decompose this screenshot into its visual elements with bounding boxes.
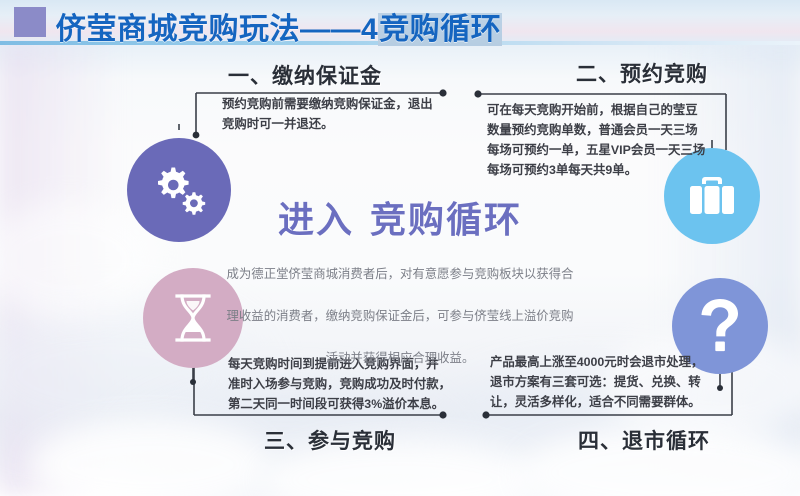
quadrant-heading-participate: 三、参与竞购 [264, 425, 396, 455]
quadrant-heading-reserve: 二、预约竞购 [576, 58, 708, 88]
quadrant-body-deposit: 预约竞购前需要缴纳竞购保证金，退出 竞购时可一并退还。 [222, 94, 472, 134]
center-body: 成为德正堂侪莹商城消费者后，对有意愿参与竞购板块以获得合 理收益的消费者，缴纳竞… [0, 243, 800, 390]
center-body-line-3: 活动并获得相应合理收益。 [0, 348, 800, 369]
slide-canvas: 侪莹商城竞购玩法——4竞购循环 [0, 0, 800, 496]
center-title-part2: 竞购循环 [370, 199, 522, 240]
center-body-line-1: 成为德正堂侪莹商城消费者后，对有意愿参与竞购板块以获得合 [0, 264, 800, 285]
center-title: 进入竞购循环 [0, 191, 800, 243]
quadrant-body-reserve: 可在每天竞购开始前，根据自己的莹豆 数量预约竞购单数，普通会员一天三场 每场可预… [487, 100, 737, 180]
center-body-line-2: 理收益的消费者，缴纳竞购保证金后，可参与侪莹线上溢价竞购 [0, 306, 800, 327]
center-title-part1: 进入 [278, 199, 354, 240]
quadrant-heading-deposit: 一、缴纳保证金 [228, 60, 382, 90]
quadrant-heading-exit: 四、退市循环 [578, 425, 710, 455]
